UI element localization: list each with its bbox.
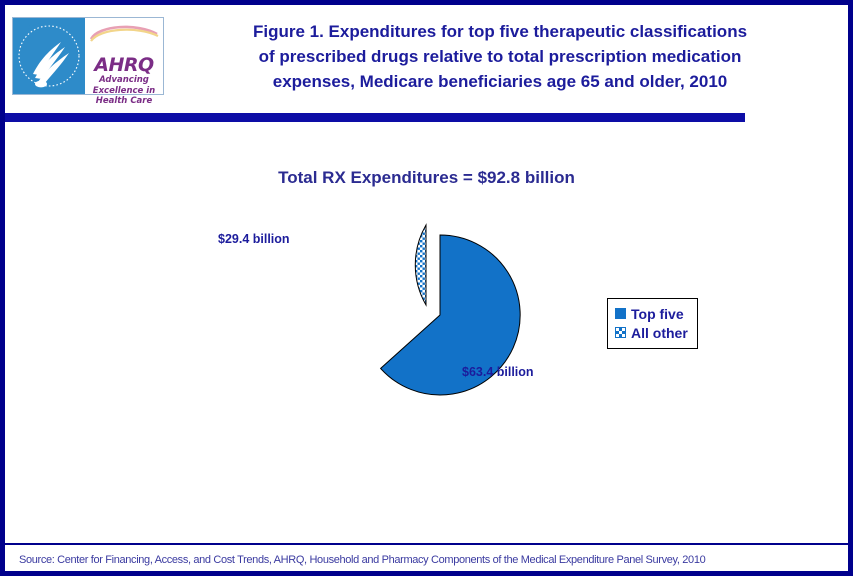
- header-divider: [5, 113, 745, 122]
- ahrq-tagline-line2: Excellence in: [85, 87, 163, 97]
- hhs-seal-icon: [13, 18, 85, 94]
- ahrq-acronym: AHRQ: [85, 55, 163, 75]
- legend-swatch-solid-icon: [615, 308, 626, 319]
- legend-label-top-five: Top five: [631, 307, 684, 321]
- legend-item-top-five[interactable]: Top five: [615, 304, 688, 323]
- figure-slide: AHRQ Advancing Excellence in Health Care…: [0, 0, 853, 576]
- chart-subtitle: Total RX Expenditures = $92.8 billion: [5, 168, 848, 188]
- legend-label-all-other: All other: [631, 326, 688, 340]
- footer-divider: [5, 543, 848, 545]
- legend-swatch-pattern-icon: [615, 327, 626, 338]
- data-label-top-five: $63.4 billion: [462, 365, 534, 379]
- figure-title-line-2: of prescribed drugs relative to total pr…: [175, 44, 825, 69]
- ahrq-tagline-line3: Health Care: [85, 97, 163, 107]
- pie-chart: $29.4 billion $63.4 billion: [5, 210, 848, 440]
- figure-title: Figure 1. Expenditures for top five ther…: [175, 19, 825, 94]
- data-label-all-other: $29.4 billion: [218, 232, 290, 246]
- source-note: Source: Center for Financing, Access, an…: [19, 554, 839, 566]
- ahrq-hhs-logo: AHRQ Advancing Excellence in Health Care: [12, 17, 164, 95]
- header: AHRQ Advancing Excellence in Health Care…: [5, 5, 848, 105]
- pie-chart-svg: [275, 220, 575, 420]
- figure-title-line-3: expenses, Medicare beneficiaries age 65 …: [175, 69, 825, 94]
- chart-legend: Top five All other: [607, 298, 698, 349]
- ahrq-wordmark: AHRQ Advancing Excellence in Health Care: [85, 18, 163, 94]
- figure-title-line-1: Figure 1. Expenditures for top five ther…: [175, 19, 825, 44]
- legend-item-all-other[interactable]: All other: [615, 323, 688, 342]
- ahrq-tagline-line1: Advancing: [85, 76, 163, 86]
- pie-slice-all-other: [415, 225, 426, 305]
